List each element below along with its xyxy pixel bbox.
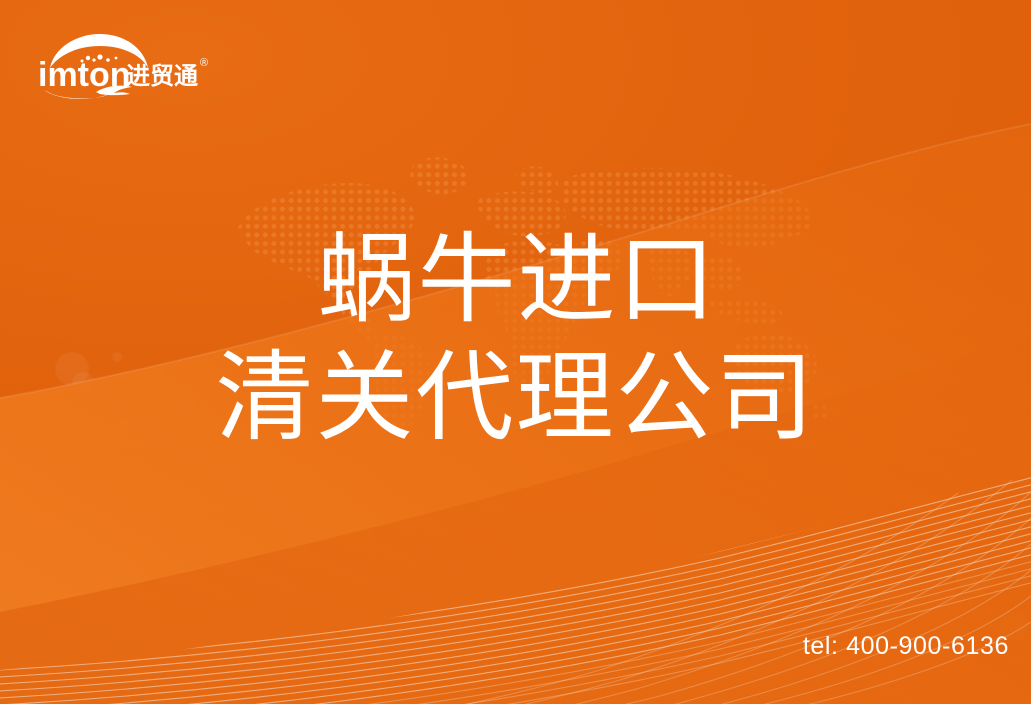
brand-logo[interactable]: imton 进贸通 ® [38,30,214,100]
diagonal-line-fan [0,474,1031,704]
headline-line-2: 清关代理公司 [0,348,1031,446]
promo-banner: imton 进贸通 ® 蜗牛进口 清关代理公司 tel: 400-900-613… [0,0,1031,704]
logo-chinese-name: 进贸通 [126,63,198,90]
page-title: 蜗牛进口 清关代理公司 [0,230,1031,446]
headline-line-1: 蜗牛进口 [0,230,1031,328]
telephone-label: tel: 400-900-6136 [803,632,1009,661]
registered-mark-icon: ® [200,57,208,69]
